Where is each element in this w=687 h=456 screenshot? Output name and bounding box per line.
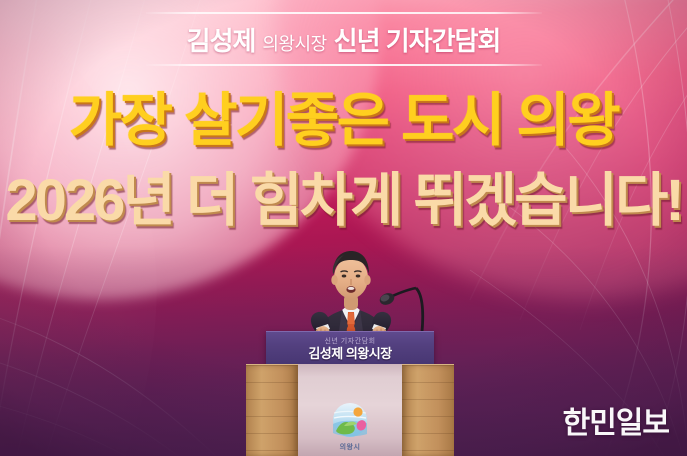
podium: 신년 기자간담회 김성제 의왕시장 bbox=[246, 331, 454, 456]
header-person-name: 김성제 bbox=[187, 21, 256, 58]
podium-panel-center: 의왕시 bbox=[298, 364, 402, 456]
slogan-line-1: 가장 살기좋은 도시 의왕 bbox=[0, 92, 687, 150]
header-rule-bottom bbox=[146, 64, 542, 66]
slogan-line-2: 2026년 더 힘차게 뛰겠습니다! bbox=[0, 172, 687, 230]
uiwang-city-logo-icon bbox=[324, 396, 376, 448]
backdrop-header: 김성제 의왕시장 신년 기자간담회 bbox=[0, 12, 687, 66]
header-text-line: 김성제 의왕시장 신년 기자간담회 bbox=[187, 21, 501, 58]
backdrop-slogan: 가장 살기좋은 도시 의왕 2026년 더 힘차게 뛰겠습니다! bbox=[0, 92, 687, 230]
header-rule-top bbox=[146, 12, 542, 14]
screenshot-root: 김성제 의왕시장 신년 기자간담회 가장 살기좋은 도시 의왕 2026년 더 … bbox=[0, 0, 687, 456]
podium-sign-name: 김성제 의왕시장 bbox=[308, 347, 391, 360]
podium-body: 의왕시 bbox=[246, 364, 454, 456]
header-event-name: 신년 기자간담회 bbox=[334, 21, 501, 58]
podium-sign-event: 신년 기자간담회 bbox=[324, 338, 375, 345]
uiwang-city-logo-caption: 의왕시 bbox=[340, 442, 361, 452]
podium-panel-right bbox=[402, 364, 454, 456]
header-person-title: 의왕시장 bbox=[262, 30, 326, 56]
podium-sign: 신년 기자간담회 김성제 의왕시장 bbox=[266, 331, 434, 365]
publisher-watermark: 한민일보 bbox=[563, 398, 669, 442]
podium-panel-left bbox=[246, 364, 298, 456]
